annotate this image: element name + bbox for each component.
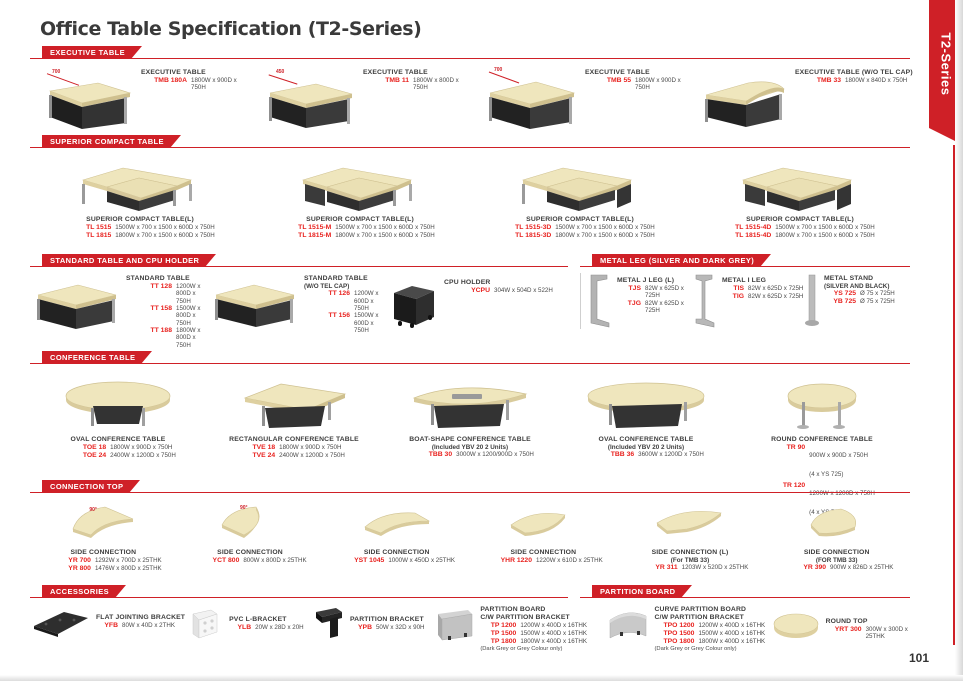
product-caption-metal-i-leg: METAL I LEG TIS 82W x 625D x 725H TIG 82… xyxy=(722,273,803,301)
curve-partition-board-illustration xyxy=(606,606,650,648)
section-header-executive-table: EXECUTIVE TABLE xyxy=(30,46,910,59)
product-footnote: (Dark Grey or Grey Colour only) xyxy=(480,646,587,653)
product-caption-partition-board-tp: PARTITION BOARD C/W PARTITION BRACKET TP… xyxy=(480,606,587,653)
product-code-line: TT 156 1500W x 600D x 750H xyxy=(304,312,390,334)
product-code: YR 700 xyxy=(45,557,91,565)
product-title: EXECUTIVE TABLE (W/O TEL CAP) xyxy=(795,69,913,77)
product-title: SIDE CONNECTION xyxy=(193,549,306,557)
product-code: TMB 11 xyxy=(363,77,409,92)
product-dimension: 1800W x 900D x 750H xyxy=(110,444,172,452)
product-caption-conference-tbb36: OVAL CONFERENCE TABLE (Included YBV 20 2… xyxy=(588,434,704,459)
product-caption-connection-yst1045: SIDE CONNECTION YST 1045 1000W x 450D x … xyxy=(338,547,455,565)
product-connection-yr311: SIDE CONNECTION (L) (For TMB 33) YR 311 … xyxy=(617,501,764,572)
product-caption-conference-toe18: OVAL CONFERENCE TABLE TOE 18 1800W x 900… xyxy=(60,434,176,460)
product-code-line: YS 725 Ø 75 x 725H xyxy=(824,290,895,298)
page-number: 101 xyxy=(909,651,929,665)
product-code-line: YPB 50W x 32D x 90H xyxy=(350,624,425,632)
product-caption-superior-tl1515: SUPERIOR COMPACT TABLE(L) TL 1515 1500W … xyxy=(65,214,214,240)
l-shape-desk-illustration xyxy=(65,154,215,214)
product-caption-conference-tve18: RECTANGULAR CONFERENCE TABLE TVE 18 1800… xyxy=(229,434,359,460)
product-dimension: 2400W x 1200D x 750H xyxy=(279,452,345,460)
product-code-line: TT 188 1800W x 800D x 750H xyxy=(126,327,210,349)
product-dimension: 1500W x 400D x 16THK xyxy=(698,630,765,638)
product-image-superior-tl1515-3d xyxy=(505,154,655,214)
half-round-connection-illustration xyxy=(503,501,583,547)
metal-j-leg-illustration xyxy=(587,273,613,329)
product-caption-executive-tmb33: EXECUTIVE TABLE (W/O TEL CAP) TMB 33 180… xyxy=(795,67,913,85)
product-image-standard-tt126 xyxy=(210,273,300,331)
section-header-conference-table: CONFERENCE TABLE xyxy=(30,351,910,364)
round-conference-table-illustration xyxy=(774,372,870,434)
angle-tag: 90° xyxy=(240,505,248,511)
product-image-flat-jointing-bracket xyxy=(30,606,92,642)
standard-desk-illustration xyxy=(210,273,300,331)
product-dimension: 1800W x 840D x 750H xyxy=(845,77,907,85)
product-code: YHR 1220 xyxy=(484,557,532,565)
product-superior-tl1515-3d: SUPERIOR COMPACT TABLE(L) TL 1515-3D 150… xyxy=(470,154,690,240)
product-code-line: TL 1515-3D 1500W x 700 x 1500 x 600D x 7… xyxy=(505,224,654,232)
product-title: CURVE PARTITION BOARD xyxy=(654,606,765,614)
product-code: TBB 30 xyxy=(406,451,452,459)
product-dimension: 82W x 625D x 725H xyxy=(748,285,803,293)
product-code: YCPU xyxy=(444,287,490,295)
product-title: SIDE CONNECTION xyxy=(45,549,162,557)
product-title: SUPERIOR COMPACT TABLE(L) xyxy=(725,216,874,224)
product-code-line: YHR 1220 1220W x 610D x 25THK xyxy=(484,557,603,565)
product-image-executive-tmb180a: 700 xyxy=(30,67,135,129)
product-caption-executive-tmb11: EXECUTIVE TABLE TMB 11 1800W x 800D x 75… xyxy=(363,67,474,92)
l-shape-desk-illustration xyxy=(285,154,435,214)
product-caption-superior-tl1515m: SUPERIOR COMPACT TABLE(L) TL 1515-M 1500… xyxy=(285,214,434,240)
product-caption-executive-tmb180a: EXECUTIVE TABLE TMB 180A 1800W x 900D x … xyxy=(141,67,252,92)
product-title: METAL J LEG (L) xyxy=(617,277,692,285)
section-header-superior-compact-table: SUPERIOR COMPACT TABLE xyxy=(30,135,910,148)
product-title: CPU HOLDER xyxy=(444,279,553,287)
product-subtitle: (For TMB 33) xyxy=(632,557,749,564)
product-image-connection-yr311 xyxy=(647,501,733,547)
product-caption-round-top: ROUND TOP YRT 300 300W x 300D x 25THK xyxy=(826,606,910,641)
product-title: BOAT-SHAPE CONFERENCE TABLE xyxy=(406,436,534,444)
product-caption-standard-tt126: STANDARD TABLE (W/O TEL CAP) TT 126 1200… xyxy=(304,273,390,334)
product-dimension: 1800W x 700 x 1500 x 600D x 750H xyxy=(555,232,654,240)
product-dimension: 1500W x 700 x 1500 x 600D x 750H xyxy=(775,224,874,232)
rectangular-conference-table-illustration xyxy=(229,372,359,434)
product-subtitle: (W/O TEL CAP) xyxy=(304,283,390,290)
product-title: EXECUTIVE TABLE xyxy=(585,69,696,77)
product-executive-tmb180a: 700 EXECUTIVE TABLE xyxy=(30,67,252,129)
product-title: PARTITION BRACKET xyxy=(350,616,425,624)
product-code: TP 1200 xyxy=(480,622,516,630)
product-dimension: 1500W x 700 x 1500 x 600D x 750H xyxy=(335,224,434,232)
product-code: TL 1815-M xyxy=(285,232,331,240)
product-code-line: YR 700 1292W x 700D x 25THK xyxy=(45,557,162,565)
round-top-illustration xyxy=(770,606,822,646)
product-dimension: 1200W x 400D x 16THK xyxy=(520,622,587,630)
section-headers-row: STANDARD TABLE AND CPU HOLDER METAL LEG … xyxy=(30,254,910,269)
corner-connection-top-illustration xyxy=(63,501,143,547)
product-partition-bracket: PARTITION BRACKET YPB 50W x 32D x 90H xyxy=(312,606,434,646)
product-image-cpu-holder xyxy=(390,273,438,331)
product-dimension: 2400W x 1200D x 750H xyxy=(110,452,176,460)
metal-i-leg-illustration xyxy=(692,273,718,329)
product-code-line: TL 1515 1500W x 700 x 1500 x 600D x 750H xyxy=(65,224,214,232)
product-code-line: TPO 1200 1200W x 400D x 16THK xyxy=(654,622,765,630)
product-caption-connection-yct800: SIDE CONNECTION YCT 800 800W x 800D x 25… xyxy=(193,547,306,565)
product-image-metal-j-leg xyxy=(587,273,613,329)
section-header-label: SUPERIOR COMPACT TABLE xyxy=(42,135,170,148)
product-dimension: 1800W x 800D x 750H xyxy=(413,77,474,92)
product-dimension: 1200W x 600D x 750H xyxy=(354,290,390,312)
page-edge-bottom xyxy=(0,675,963,681)
product-round-top: ROUND TOP YRT 300 300W x 300D x 25THK xyxy=(770,606,910,646)
product-title: OVAL CONFERENCE TABLE xyxy=(588,436,704,444)
product-subtitle: C/W PARTITION BRACKET xyxy=(654,614,765,622)
product-dimension: 1203W x 520D x 25THK xyxy=(682,564,749,572)
product-code-line: TL 1815-M 1800W x 700 x 1500 x 600D x 75… xyxy=(285,232,434,240)
product-caption-partition-bracket: PARTITION BRACKET YPB 50W x 32D x 90H xyxy=(350,606,425,632)
product-code-line: TVE 24 2400W x 1200D x 750H xyxy=(229,452,359,460)
product-standard-tt126: STANDARD TABLE (W/O TEL CAP) TT 126 1200… xyxy=(210,273,390,334)
product-title: SUPERIOR COMPACT TABLE(L) xyxy=(505,216,654,224)
product-dimension: 304W x 504D x 522H xyxy=(494,287,553,295)
section-standard-and-metal: STANDARD TABLE AND CPU HOLDER METAL LEG … xyxy=(30,254,910,349)
product-image-round-top xyxy=(770,606,822,646)
product-title: SIDE CONNECTION xyxy=(338,549,455,557)
product-title: FLAT JOINTING BRACKET xyxy=(96,614,185,622)
dimension-tag: 700 xyxy=(494,67,502,73)
product-code: TR 90 xyxy=(769,444,805,482)
product-superior-tl1515m: SUPERIOR COMPACT TABLE(L) TL 1515-M 1500… xyxy=(250,154,470,240)
product-code: TPO 1800 xyxy=(654,638,694,646)
product-image-superior-tl1515 xyxy=(65,154,215,214)
product-code: TMB 55 xyxy=(585,77,631,92)
product-subtitle: (SILVER AND BLACK) xyxy=(824,283,895,290)
tmb33-side-connection-illustration xyxy=(797,501,877,547)
product-image-executive-tmb33 xyxy=(696,67,791,129)
product-dimension: 1500W x 700 x 1500 x 600D x 750H xyxy=(115,224,214,232)
product-title: SIDE CONNECTION xyxy=(484,549,603,557)
product-curve-partition-board-tpo: CURVE PARTITION BOARD C/W PARTITION BRAC… xyxy=(606,606,769,653)
product-code-line: TIG 82W x 625D x 725H xyxy=(722,293,803,301)
product-image-conference-tbb30 xyxy=(400,372,540,434)
product-code-line: TMB 55 1800W x 900D x 750H xyxy=(585,77,696,92)
product-dimension: 1200W x 400D x 16THK xyxy=(698,622,765,630)
product-pvc-l-bracket: PVC L-BRACKET YLB 20W x 28D x 20H xyxy=(185,606,312,646)
product-image-curve-partition-board xyxy=(606,606,650,648)
product-code: YFB xyxy=(96,622,118,630)
section-conference-table: CONFERENCE TABLE OVAL CONFEREN xyxy=(30,351,910,478)
section-header-partition-board: PARTITION BOARD xyxy=(580,585,910,598)
product-image-superior-tl1515m xyxy=(285,154,435,214)
product-dimension: 900W x 826D x 25THK xyxy=(830,564,893,572)
section-superior-compact-table: SUPERIOR COMPACT TABLE xyxy=(30,135,910,252)
oval-conference-table-illustration xyxy=(576,372,716,434)
product-title: SIDE CONNECTION xyxy=(780,549,893,557)
product-code-line: YCPU 304W x 504D x 522H xyxy=(444,287,553,295)
product-dimension: 1800W x 900D x 750H xyxy=(191,77,252,92)
section-accessories-and-partition: ACCESSORIES PARTITION BOARD xyxy=(30,585,910,670)
product-superior-tl1515: SUPERIOR COMPACT TABLE(L) TL 1515 1500W … xyxy=(30,154,250,240)
product-title: SUPERIOR COMPACT TABLE(L) xyxy=(65,216,214,224)
section-header-label: METAL LEG (SILVER AND DARK GREY) xyxy=(592,254,760,267)
product-image-standard-tt128 xyxy=(30,273,122,331)
product-caption-connection-yr311: SIDE CONNECTION (L) (For TMB 33) YR 311 … xyxy=(632,547,749,572)
product-code: YB 725 xyxy=(824,298,856,306)
product-dimension: 82W x 625D x 725H xyxy=(645,285,692,300)
product-caption-executive-tmb55: EXECUTIVE TABLE TMB 55 1800W x 900D x 75… xyxy=(585,67,696,92)
product-caption-conference-tbb30: BOAT-SHAPE CONFERENCE TABLE (Included YB… xyxy=(406,434,534,459)
product-caption-metal-j-leg: METAL J LEG (L) TJS 82W x 625D x 725H TJ… xyxy=(617,273,692,314)
product-dimension: 1800W x 800D x 750H xyxy=(176,327,210,349)
product-dimension: 1500W x 600D x 750H xyxy=(354,312,390,334)
product-dimension: 800W x 800D x 25THK xyxy=(243,557,306,565)
product-title: RECTANGULAR CONFERENCE TABLE xyxy=(229,436,359,444)
series-side-tab-label: T2-Series xyxy=(939,32,954,95)
product-code: TMB 33 xyxy=(795,77,841,85)
product-subtitle: (FOR TMB 33) xyxy=(780,557,893,564)
section-header-label: CONNECTION TOP xyxy=(42,480,129,493)
product-code: TVE 24 xyxy=(229,452,275,460)
product-image-connection-yr700: 90° xyxy=(63,501,143,547)
product-dimension: 1200W x 800D x 750H xyxy=(176,283,210,305)
product-conference-tbb36: OVAL CONFERENCE TABLE (Included YBV 20 2… xyxy=(558,372,734,459)
flat-bracket-illustration xyxy=(30,606,92,642)
product-title: ROUND TOP xyxy=(826,618,910,626)
product-code: TT 128 xyxy=(126,283,172,305)
product-code-line: TBB 36 3600W x 1200D x 750H xyxy=(588,451,704,459)
product-code-line: TL 1515-4D 1500W x 700 x 1500 x 600D x 7… xyxy=(725,224,874,232)
product-dimension: 1292W x 700D x 25THK xyxy=(95,557,162,565)
product-image-metal-i-leg xyxy=(692,273,718,329)
product-code-line: TR 90 900W x 900D x 750H (4 x YS 725) xyxy=(769,444,875,482)
product-caption-connection-yr700: SIDE CONNECTION YR 700 1292W x 700D x 25… xyxy=(45,547,162,573)
product-code: TJS xyxy=(617,285,641,300)
product-dimension: Ø 75 x 725H xyxy=(860,290,895,298)
product-cpu-holder: CPU HOLDER YCPU 304W x 504D x 522H xyxy=(390,273,580,331)
product-code-line: TMB 11 1800W x 800D x 750H xyxy=(363,77,474,92)
product-code: TOE 24 xyxy=(60,452,106,460)
product-code-line: TT 126 1200W x 600D x 750H xyxy=(304,290,390,312)
partition-board-illustration xyxy=(434,606,476,648)
product-dimension: 82W x 625D x 725H xyxy=(748,293,803,301)
product-conference-toe18: OVAL CONFERENCE TABLE TOE 18 1800W x 900… xyxy=(30,372,206,460)
section-header-metal-leg: METAL LEG (SILVER AND DARK GREY) xyxy=(580,254,910,267)
product-title: OVAL CONFERENCE TABLE xyxy=(60,436,176,444)
section-header-label: EXECUTIVE TABLE xyxy=(42,46,131,59)
product-code: YPB xyxy=(350,624,372,632)
product-dimension: 1000W x 450D x 25THK xyxy=(388,557,455,565)
product-caption-standard-tt128: STANDARD TABLE TT 128 1200W x 800D x 750… xyxy=(126,273,210,349)
product-code-line: TL 1815 1800W x 700 x 1500 x 600D x 750H xyxy=(65,232,214,240)
product-code-line: TOE 18 1800W x 900D x 750H xyxy=(60,444,176,452)
product-superior-tl1515-4d: SUPERIOR COMPACT TABLE(L) TL 1515-4D 150… xyxy=(690,154,910,240)
product-code: TT 156 xyxy=(304,312,350,334)
product-code-line: TP 1500 1500W x 400D x 16THK xyxy=(480,630,587,638)
product-dimension: 900W x 900D x 750H xyxy=(809,452,868,459)
product-code: YS 725 xyxy=(824,290,856,298)
product-dimension: 1800W x 400D x 16THK xyxy=(520,638,587,646)
product-caption-metal-stand: METAL STAND (SILVER AND BLACK) YS 725 Ø … xyxy=(824,273,895,306)
product-code-line: TL 1815-4D 1800W x 700 x 1500 x 600D x 7… xyxy=(725,232,874,240)
product-note: (4 x YS 725) xyxy=(809,471,843,478)
product-image-conference-tr90 xyxy=(774,372,870,434)
product-code-line: TPO 1800 1800W x 400D x 16THK xyxy=(654,638,765,646)
section-header-label: ACCESSORIES xyxy=(42,585,115,598)
standard-desk-illustration xyxy=(30,273,122,331)
product-dimension: 50W x 32D x 90H xyxy=(376,624,425,632)
executive-desk-illustration xyxy=(252,67,357,129)
product-image-executive-tmb11: 450 xyxy=(252,67,357,129)
product-title: STANDARD TABLE xyxy=(304,275,390,283)
cpu-holder-illustration xyxy=(390,273,438,331)
product-code-line: YST 1045 1000W x 450D x 25THK xyxy=(338,557,455,565)
product-connection-yr700: 90° SIDE CONNECTION YR 700 1292W x 700D … xyxy=(30,501,177,573)
product-image-metal-stand xyxy=(804,273,820,329)
product-code: YR 311 xyxy=(632,564,678,572)
executive-table-row: 700 EXECUTIVE TABLE xyxy=(30,61,910,133)
superior-compact-row: SUPERIOR COMPACT TABLE(L) TL 1515 1500W … xyxy=(30,150,910,252)
product-caption-flat-jointing-bracket: FLAT JOINTING BRACKET YFB 80W x 40D x 2T… xyxy=(96,606,185,630)
product-code: TOE 18 xyxy=(60,444,106,452)
catalog-page: T2-Series Office Table Specification (T2… xyxy=(0,0,963,681)
product-dimension: 1800W x 700 x 1500 x 600D x 750H xyxy=(115,232,214,240)
product-subtitle: (Included YBV 20 2 Units) xyxy=(406,444,534,451)
product-code-line: YCT 800 800W x 800D x 25THK xyxy=(193,557,306,565)
product-code: TIS xyxy=(722,285,744,293)
product-conference-tbb30: BOAT-SHAPE CONFERENCE TABLE (Included YB… xyxy=(382,372,558,459)
product-image-conference-toe18 xyxy=(53,372,183,434)
product-standard-tt128: STANDARD TABLE TT 128 1200W x 800D x 750… xyxy=(30,273,210,349)
product-dimension: 1800W x 400D x 16THK xyxy=(698,638,765,646)
executive-desk-illustration xyxy=(474,67,579,129)
product-title: SIDE CONNECTION (L) xyxy=(632,549,749,557)
product-code: TBB 36 xyxy=(588,451,634,459)
product-image-conference-tve18 xyxy=(229,372,359,434)
product-code: TPO 1500 xyxy=(654,630,694,638)
conference-row: OVAL CONFERENCE TABLE TOE 18 1800W x 900… xyxy=(30,366,910,478)
product-dimension: 1476W x 800D x 25THK xyxy=(95,565,162,573)
product-code: TP 1500 xyxy=(480,630,516,638)
oval-conference-table-illustration xyxy=(53,372,183,434)
product-conference-tve18: RECTANGULAR CONFERENCE TABLE TVE 18 1800… xyxy=(206,372,382,460)
product-code: YLB xyxy=(229,624,251,632)
product-caption-cpu-holder: CPU HOLDER YCPU 304W x 504D x 522H xyxy=(444,273,553,295)
product-image-partition-board-tp xyxy=(434,606,476,648)
product-title: PARTITION BOARD xyxy=(480,606,587,614)
product-code: TP 1800 xyxy=(480,638,516,646)
section-connection-top: CONNECTION TOP 90° SIDE CONNECTION Y xyxy=(30,480,910,583)
product-code-line: YR 800 1476W x 800D x 25THK xyxy=(45,565,162,573)
product-code: TL 1815 xyxy=(65,232,111,240)
product-code-line: TOE 24 2400W x 1200D x 750H xyxy=(60,452,176,460)
l-shape-desk-illustration xyxy=(725,154,875,214)
product-image-connection-yst1045 xyxy=(357,501,437,547)
page-title: Office Table Specification (T2-Series) xyxy=(40,18,910,40)
product-dimension: 1800W x 900D x 750H xyxy=(279,444,341,452)
product-image-pvc-l-bracket xyxy=(185,606,225,646)
product-code: TL 1515-M xyxy=(285,224,331,232)
page-edge-right xyxy=(955,0,963,681)
partition-bracket-illustration xyxy=(312,606,346,646)
product-code-line: TP 1800 1800W x 400D x 16THK xyxy=(480,638,587,646)
product-dimension: 80W x 40D x 2THK xyxy=(122,622,175,630)
product-caption-pvc-l-bracket: PVC L-BRACKET YLB 20W x 28D x 20H xyxy=(229,606,304,632)
product-dimension: 3000W x 1200/900D x 750H xyxy=(456,451,534,459)
product-image-partition-bracket xyxy=(312,606,346,646)
product-caption-superior-tl1515-3d: SUPERIOR COMPACT TABLE(L) TL 1515-3D 150… xyxy=(505,214,654,240)
product-image-executive-tmb55: 700 xyxy=(474,67,579,129)
product-code: TT 126 xyxy=(304,290,350,312)
product-code-line: YLB 20W x 28D x 20H xyxy=(229,624,304,632)
product-caption-curve-partition-board: CURVE PARTITION BOARD C/W PARTITION BRAC… xyxy=(654,606,765,653)
product-code-line: TVE 18 1800W x 900D x 750H xyxy=(229,444,359,452)
accessories-partition-row: FLAT JOINTING BRACKET YFB 80W x 40D x 2T… xyxy=(30,600,910,670)
product-subtitle: C/W PARTITION BRACKET xyxy=(480,614,587,622)
product-dimension: 1220W x 610D x 25THK xyxy=(536,557,603,565)
product-code-line: TJG 82W x 625D x 725H xyxy=(617,300,692,315)
product-code-line: TT 158 1500W x 800D x 750H xyxy=(126,305,210,327)
section-header-label: CONFERENCE TABLE xyxy=(42,351,141,364)
product-partition-board-tp: PARTITION BOARD C/W PARTITION BRACKET TP… xyxy=(434,606,606,653)
product-dimension: 1800W x 700 x 1500 x 600D x 750H xyxy=(775,232,874,240)
product-code-line: YR 311 1203W x 520D x 25THK xyxy=(632,564,749,572)
product-title: EXECUTIVE TABLE xyxy=(141,69,252,77)
product-code-line: TBB 30 3000W x 1200/900D x 750H xyxy=(406,451,534,459)
product-dimension: 82W x 625D x 725H xyxy=(645,300,692,315)
product-dimension: 1500W x 400D x 16THK xyxy=(520,630,587,638)
product-code: YCT 800 xyxy=(193,557,239,565)
product-executive-tmb33: EXECUTIVE TABLE (W/O TEL CAP) TMB 33 180… xyxy=(696,67,906,129)
product-title: METAL I LEG xyxy=(722,277,803,285)
product-dimension: 1800W x 700 x 1500 x 600D x 750H xyxy=(335,232,434,240)
product-image-superior-tl1515-4d xyxy=(725,154,875,214)
product-flat-jointing-bracket: FLAT JOINTING BRACKET YFB 80W x 40D x 2T… xyxy=(30,606,185,642)
product-title: METAL STAND xyxy=(824,275,895,283)
section-executive-table: EXECUTIVE TABLE 700 xyxy=(30,46,910,133)
l-shape-desk-illustration xyxy=(505,154,655,214)
product-code: YR 800 xyxy=(45,565,91,573)
product-subtitle: (Included YBV 20 2 Units) xyxy=(588,444,704,451)
product-code-line: TP 1200 1200W x 400D x 16THK xyxy=(480,622,587,630)
product-code-line: TMB 180A 1800W x 900D x 750H xyxy=(141,77,252,92)
quarter-round-connection-illustration xyxy=(210,501,290,547)
product-code-line: TL 1515-M 1500W x 700 x 1500 x 600D x 75… xyxy=(285,224,434,232)
product-code: TIG xyxy=(722,293,744,301)
product-code-line: TIS 82W x 625D x 725H xyxy=(722,285,803,293)
product-code: TT 158 xyxy=(126,305,172,327)
product-dimension: 1500W x 800D x 750H xyxy=(176,305,210,327)
page-content: Office Table Specification (T2-Series) E… xyxy=(30,12,910,667)
product-dimension: 20W x 28D x 20H xyxy=(255,624,304,632)
product-code: TL 1515-3D xyxy=(505,224,551,232)
product-executive-tmb55: 700 EXECUTIVE TABLE xyxy=(474,67,696,129)
product-title: PVC L-BRACKET xyxy=(229,616,304,624)
product-code: YST 1045 xyxy=(338,557,384,565)
product-dimension: 1500W x 700 x 1500 x 600D x 750H xyxy=(555,224,654,232)
product-title: EXECUTIVE TABLE xyxy=(363,69,474,77)
product-connection-yst1045: SIDE CONNECTION YST 1045 1000W x 450D x … xyxy=(323,501,470,565)
product-metal-i-leg: METAL I LEG TIS 82W x 625D x 725H TIG 82… xyxy=(692,273,804,329)
product-caption-superior-tl1515-4d: SUPERIOR COMPACT TABLE(L) TL 1515-4D 150… xyxy=(725,214,874,240)
section-header-label: STANDARD TABLE AND CPU HOLDER xyxy=(42,254,205,267)
product-code-line: TJS 82W x 625D x 725H xyxy=(617,285,692,300)
dimension-tag: 700 xyxy=(52,69,60,75)
section-headers-row: ACCESSORIES PARTITION BOARD xyxy=(30,585,910,600)
standard-metal-row: STANDARD TABLE TT 128 1200W x 800D x 750… xyxy=(30,269,910,349)
product-code-line: TMB 33 1800W x 840D x 750H xyxy=(795,77,913,85)
product-code: TL 1515-4D xyxy=(725,224,771,232)
section-header-label: PARTITION BOARD xyxy=(592,585,681,598)
